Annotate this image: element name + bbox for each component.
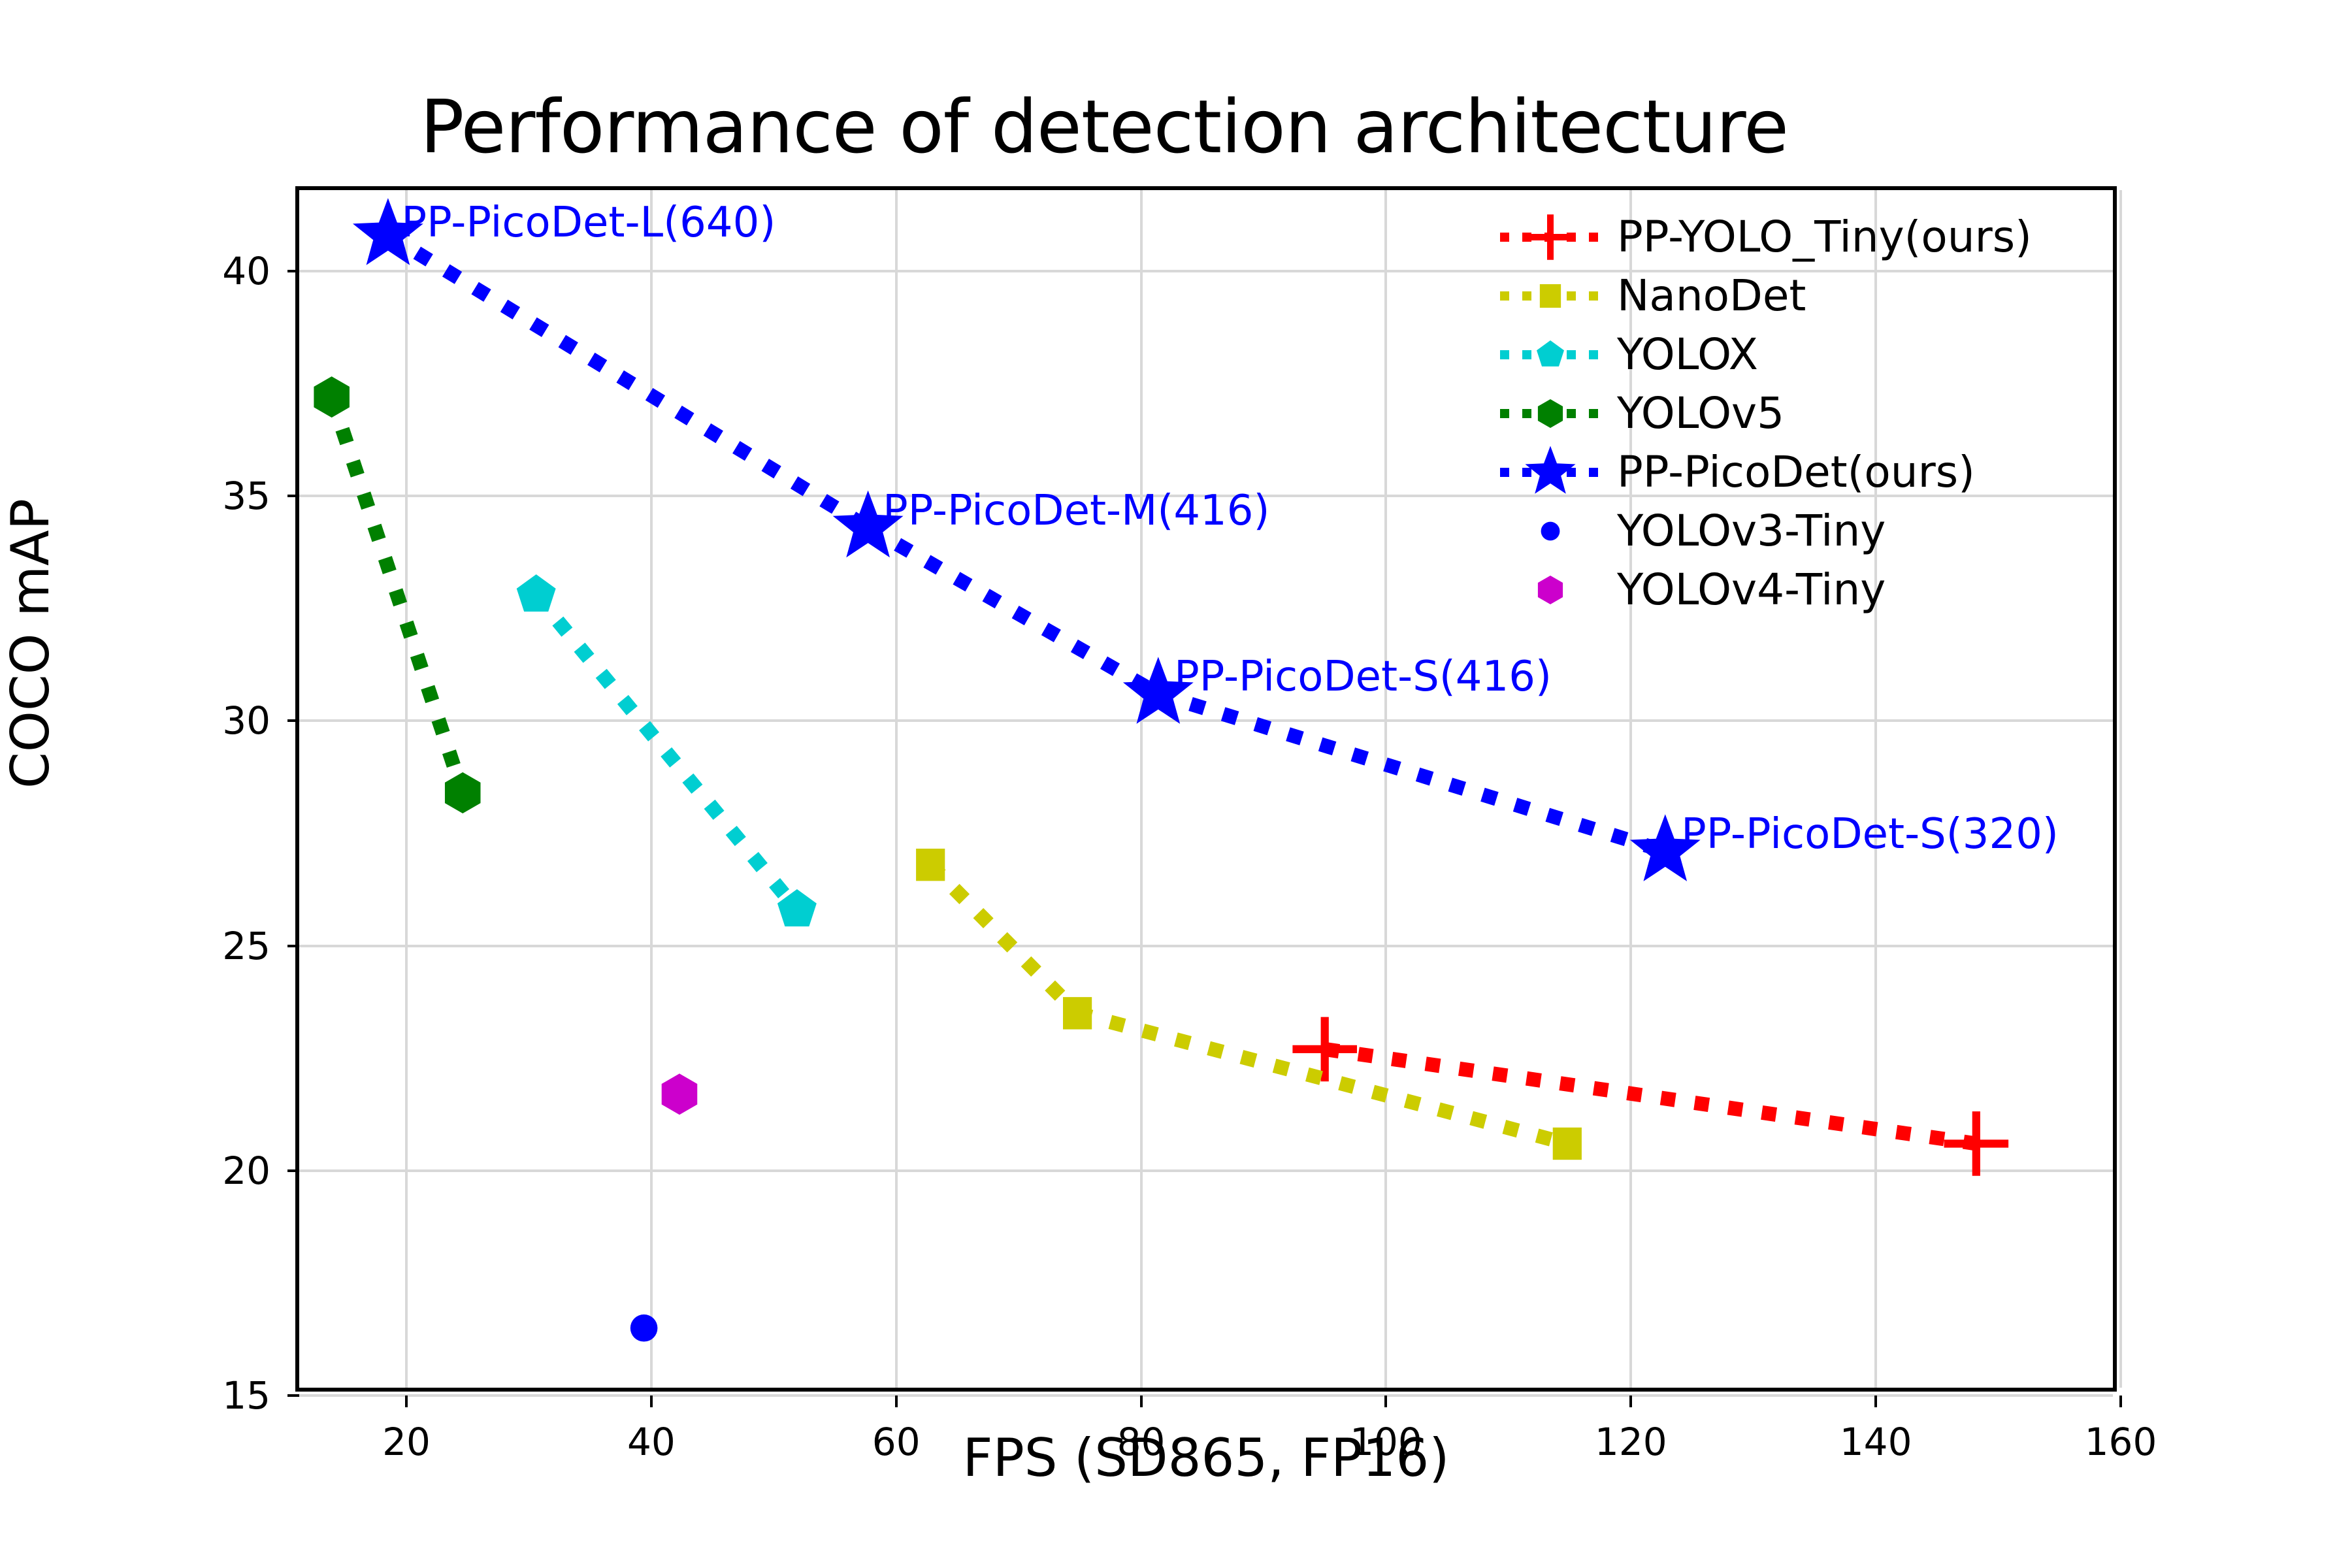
y-tick-mark (287, 1169, 299, 1172)
y-tick-label: 30 (222, 698, 270, 743)
legend-item-label: YOLOX (1617, 333, 1758, 376)
chart-legend: PP-YOLO_Tiny(ours)NanoDetYOLOXYOLOv5PP-P… (1496, 208, 2058, 619)
legend-square-icon (1540, 284, 1561, 308)
chart-figure: Performance of detection architecture 20… (0, 0, 2352, 1568)
legend-marker-pentagon-icon (1496, 325, 1617, 384)
legend-marker-plus-icon (1496, 208, 1617, 267)
chart-title-text: Performance of detection architecture (420, 85, 1788, 170)
data-point-pentagon-marker (517, 574, 556, 612)
y-tick-label: 20 (222, 1149, 270, 1193)
legend-hexagon-icon (1538, 399, 1563, 428)
y-tick-label: 35 (222, 474, 270, 518)
data-point-plus-marker (1292, 1017, 1357, 1082)
legend-circle-icon (1541, 522, 1560, 541)
point-annotation-label: PP-PicoDet-S(416) (1174, 653, 1552, 701)
data-point-pentagon-marker (777, 889, 817, 926)
data-point-plus-marker (1944, 1111, 2009, 1176)
legend-item-nanodet[interactable]: NanoDet (1496, 267, 2058, 325)
y-tick-mark (287, 270, 299, 272)
series-yolov4-tiny (662, 1073, 698, 1115)
legend-item-pp-picodet-ours-[interactable]: PP-PicoDet(ours) (1496, 443, 2058, 502)
legend-item-yolov3-tiny[interactable]: YOLOv3-Tiny (1496, 502, 2058, 561)
data-point-circle-marker (630, 1315, 658, 1342)
x-axis-label: FPS (SD865, FP16) (295, 1428, 2117, 1488)
y-tick-label: 40 (222, 249, 270, 293)
series-yolov3-tiny (630, 1315, 658, 1342)
series-yolov5 (314, 376, 480, 813)
legend-marker-hexagon-icon (1496, 384, 1617, 443)
point-annotation-label: PP-PicoDet-L(640) (402, 199, 776, 247)
legend-hexagon-icon (1538, 576, 1563, 604)
legend-marker-hexagon-icon (1496, 561, 1617, 619)
x-tick-mark (650, 1396, 653, 1407)
y-tick-mark (287, 719, 299, 722)
legend-item-yolov4-tiny[interactable]: YOLOv4-Tiny (1496, 561, 2058, 619)
y-tick-label: 15 (222, 1373, 270, 1418)
data-point-hexagon-marker (314, 376, 350, 417)
x-tick-mark (1140, 1396, 1143, 1407)
series-line-segment (536, 595, 797, 910)
legend-item-label: PP-YOLO_Tiny(ours) (1617, 216, 2032, 259)
data-point-hexagon-marker (662, 1073, 698, 1115)
data-point-square-marker (1063, 997, 1092, 1029)
legend-plus-icon (1527, 214, 1573, 260)
x-tick-mark (405, 1396, 408, 1407)
legend-marker-star-icon (1496, 443, 1617, 502)
series-yolox (517, 574, 817, 926)
series-line-segment (388, 235, 868, 527)
legend-item-yolov5[interactable]: YOLOv5 (1496, 384, 2058, 443)
x-tick-mark (895, 1396, 898, 1407)
series-line-segment (1158, 694, 1665, 851)
y-tick-mark (287, 1394, 299, 1397)
legend-pentagon-icon (1537, 340, 1564, 367)
x-tick-mark (1629, 1396, 1632, 1407)
series-line-segment (332, 397, 463, 793)
legend-item-label: NanoDet (1617, 274, 1806, 318)
series-pp-yolo-tiny-ours- (1292, 1017, 2008, 1176)
point-annotation-label: PP-PicoDet-S(320) (1681, 810, 2059, 858)
x-tick-mark (2119, 1396, 2122, 1407)
legend-star-icon (1525, 446, 1575, 494)
data-point-hexagon-marker (445, 772, 481, 813)
x-tick-mark (1874, 1396, 1877, 1407)
y-tick-label: 25 (222, 924, 270, 968)
legend-item-yolox[interactable]: YOLOX (1496, 325, 2058, 384)
y-tick-mark (287, 495, 299, 497)
point-annotation-label: PP-PicoDet-M(416) (883, 487, 1269, 535)
series-line-segment (868, 527, 1158, 694)
legend-marker-square-icon (1496, 267, 1617, 325)
legend-item-label: YOLOv5 (1617, 392, 1784, 435)
legend-item-label: PP-PicoDet(ours) (1617, 451, 1975, 494)
y-tick-mark (287, 945, 299, 947)
data-point-square-marker (916, 849, 945, 881)
series-line-segment (1325, 1049, 1976, 1144)
y-axis-label: COCO mAP (0, 498, 61, 789)
data-point-square-marker (1553, 1128, 1582, 1160)
legend-item-pp-yolo-tiny-ours-[interactable]: PP-YOLO_Tiny(ours) (1496, 208, 2058, 267)
legend-marker-circle-icon (1496, 502, 1617, 561)
x-tick-mark (1384, 1396, 1387, 1407)
legend-item-label: YOLOv3-Tiny (1617, 510, 1886, 553)
chart-title: Performance of detection architecture (0, 85, 2352, 170)
series-line-segment (930, 865, 1077, 1013)
series-nanodet (916, 849, 1582, 1160)
legend-item-label: YOLOv4-Tiny (1617, 568, 1886, 612)
